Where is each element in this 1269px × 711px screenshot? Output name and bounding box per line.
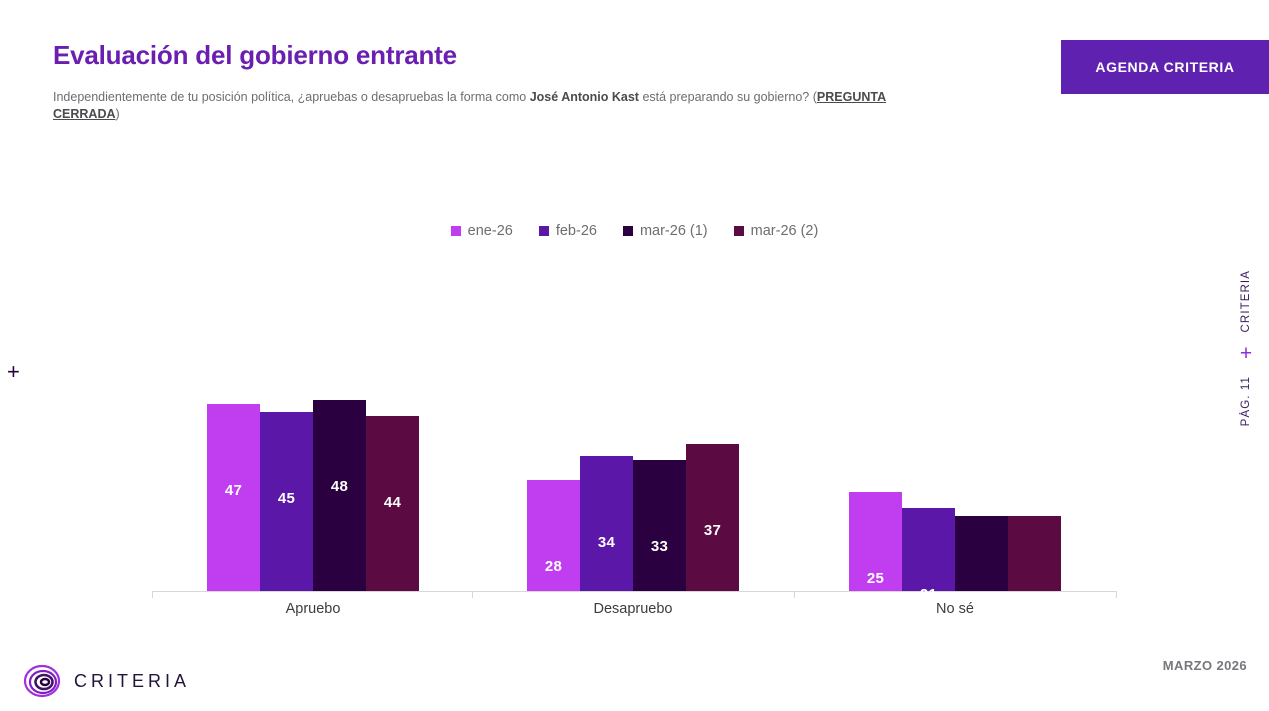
legend-swatch-icon [734,226,744,236]
bar[interactable]: 19 [955,516,1008,591]
criteria-logo: CRITERIA [22,661,190,701]
axis-tick [152,591,153,598]
legend-swatch-icon [623,226,633,236]
page-subtitle: Independientemente de tu posición políti… [53,89,893,123]
axis-tick [794,591,795,598]
bar[interactable]: 19 [1008,516,1061,591]
bar[interactable]: 47 [207,404,260,591]
bar-group-apruebo: 47454844 [207,300,419,591]
bar[interactable]: 48 [313,400,366,591]
legend-swatch-icon [451,226,461,236]
bar-value-label: 37 [704,522,721,539]
legend-item-mar-26-1-[interactable]: mar-26 (1) [623,223,708,239]
side-rail: CRITERIA + PÁG. 11 [1231,270,1261,460]
bar-group-desapruebo: 28343337 [527,300,739,591]
bar-value-label: 33 [651,538,668,555]
legend-label: ene-26 [468,223,513,239]
legend-label: mar-26 (2) [751,223,819,239]
legend-label: feb-26 [556,223,597,239]
axis-tick [472,591,473,598]
legend-item-mar-26-2-[interactable]: mar-26 (2) [734,223,819,239]
bar[interactable]: 37 [686,444,739,591]
category-label: No sé [936,601,974,617]
bar-value-label: 45 [278,490,295,507]
legend-label: mar-26 (1) [640,223,708,239]
agenda-criteria-badge[interactable]: AGENDA CRITERIA [1061,40,1269,94]
category-label: Apruebo [286,601,341,617]
subtitle-person-name: José Antonio Kast [530,90,639,104]
bar[interactable]: 33 [633,460,686,591]
bar[interactable]: 21 [902,508,955,591]
axis-tick [1116,591,1117,598]
subtitle-text-2: está preparando su gobierno? ( [639,90,817,104]
subtitle-text-1: Independientemente de tu posición políti… [53,90,530,104]
legend-item-feb-26[interactable]: feb-26 [539,223,597,239]
bar-value-label: 47 [225,482,242,499]
page-number-label: PÁG. 11 [1240,376,1252,426]
legend-swatch-icon [539,226,549,236]
chart-legend: ene-26feb-26mar-26 (1)mar-26 (2) [0,223,1269,239]
bar[interactable]: 25 [849,492,902,591]
bar[interactable]: 44 [366,416,419,591]
bar-value-label: 44 [384,494,401,511]
page-title: Evaluación del gobierno entrante [53,40,457,71]
bar[interactable]: 28 [527,480,580,591]
category-label: Desapruebo [594,601,673,617]
footer-date: MARZO 2026 [1163,658,1247,673]
bar-value-label: 28 [545,558,562,575]
bar-value-label: 25 [867,570,884,587]
bar-chart: 474548442834333725211919 [152,300,1117,592]
bar-value-label: 34 [598,534,615,551]
decorative-plus-right: + [1240,346,1252,362]
rail-brand-label: CRITERIA [1240,270,1252,332]
bar-value-label: 48 [331,478,348,495]
decorative-plus-left: + [7,363,20,381]
plot-area: 474548442834333725211919 [152,300,1117,592]
subtitle-text-3: ) [116,107,120,121]
criteria-logo-text: CRITERIA [74,671,190,692]
bar-group-no-s-: 25211919 [849,300,1061,591]
criteria-logo-icon [22,661,62,701]
category-axis-labels: AprueboDesaprueboNo sé [152,601,1117,625]
bar[interactable]: 34 [580,456,633,591]
x-axis-line [152,591,1117,592]
legend-item-ene-26[interactable]: ene-26 [451,223,513,239]
bar[interactable]: 45 [260,412,313,591]
